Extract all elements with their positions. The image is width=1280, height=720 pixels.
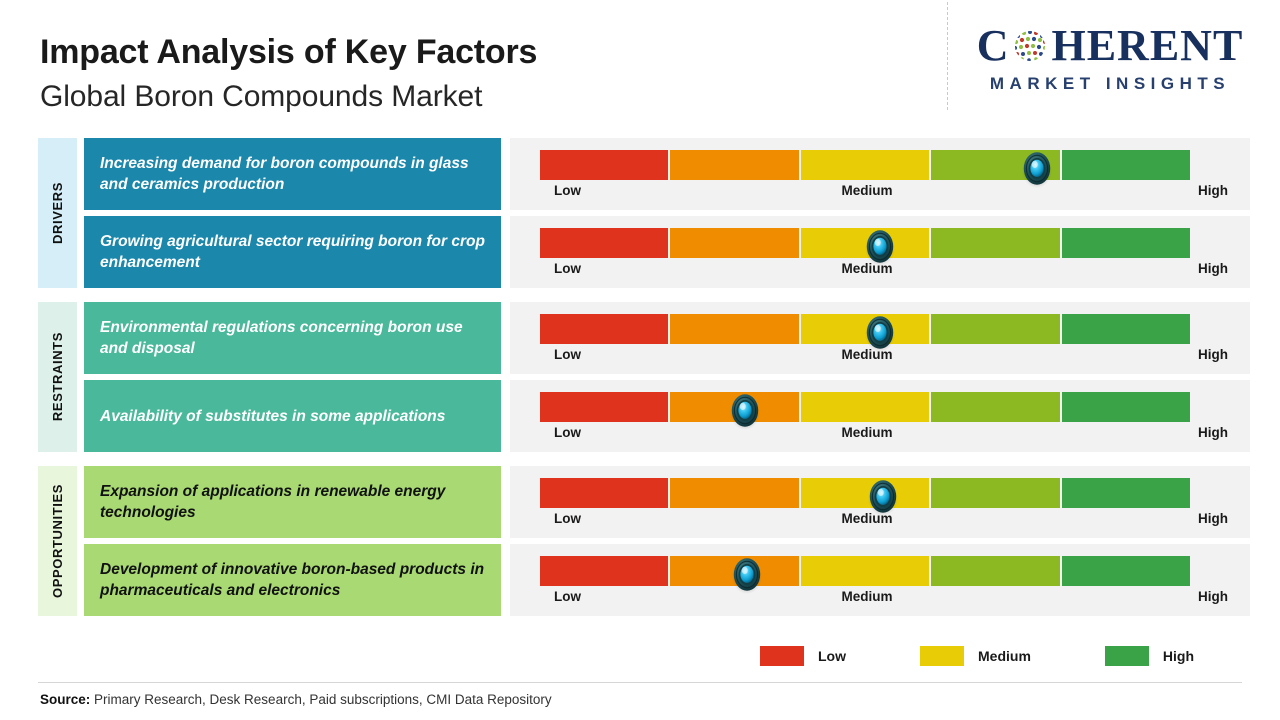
scale-label-low: Low: [554, 261, 581, 276]
gauge-segment-4: [931, 314, 1059, 344]
scale-label-medium: Medium: [841, 511, 892, 526]
source-text: Primary Research, Desk Research, Paid su…: [90, 692, 551, 707]
gauge-segment-5: [1062, 392, 1190, 422]
factor-stack: Expansion of applications in renewable e…: [84, 466, 501, 616]
gauge-segment-2: [670, 556, 798, 586]
gauge-bar: [540, 478, 1190, 508]
gauges-column: LowMediumHigh LowMediumHigh: [510, 138, 1250, 616]
gauge-bar: [540, 150, 1190, 180]
vertical-dashed-divider-icon: [947, 2, 948, 110]
category-tab-label: RESTRAINTS: [50, 332, 65, 421]
gauge-segment-5: [1062, 556, 1190, 586]
scale-label-low: Low: [554, 425, 581, 440]
scale-label-low: Low: [554, 183, 581, 198]
gauge-segment-3: [801, 150, 929, 180]
category-group-drivers: DRIVERSIncreasing demand for boron compo…: [38, 138, 501, 288]
factors-column: DRIVERSIncreasing demand for boron compo…: [38, 138, 501, 616]
gauge-bar: [540, 228, 1190, 258]
scale-label-high: High: [1198, 261, 1228, 276]
gauge-segment-4: [931, 228, 1059, 258]
legend-item: High: [1105, 646, 1194, 666]
scale-label-high: High: [1198, 589, 1228, 604]
source-note: Source: Primary Research, Desk Research,…: [40, 692, 552, 707]
logo-wordmark: C: [960, 22, 1260, 70]
gauge-segment-1: [540, 556, 668, 586]
scale-label-medium: Medium: [841, 261, 892, 276]
scale-label-low: Low: [554, 511, 581, 526]
category-group-restraints: RESTRAINTSEnvironmental regulations conc…: [38, 302, 501, 452]
factor-stack: Increasing demand for boron compounds in…: [84, 138, 501, 288]
gauge-row: LowMediumHigh: [510, 138, 1250, 210]
gauge-segment-4: [931, 556, 1059, 586]
gauge-segment-3: [801, 556, 929, 586]
legend-swatch-high: [1105, 646, 1149, 666]
gauge-segment-3: [801, 392, 929, 422]
gauge-segment-5: [1062, 314, 1190, 344]
scale-label-medium: Medium: [841, 589, 892, 604]
gauge-scale: LowMediumHigh: [540, 589, 1228, 609]
title-block: Impact Analysis of Key Factors Global Bo…: [40, 30, 537, 118]
scale-label-medium: Medium: [841, 425, 892, 440]
legend-swatch-low: [760, 646, 804, 666]
factor-box[interactable]: Availability of substitutes in some appl…: [84, 380, 501, 452]
legend-label: Low: [818, 648, 846, 664]
page-subtitle: Global Boron Compounds Market: [40, 76, 537, 118]
gauge-segment-1: [540, 392, 668, 422]
impact-legend: LowMediumHigh: [760, 640, 1220, 672]
scale-label-high: High: [1198, 183, 1228, 198]
factor-box[interactable]: Increasing demand for boron compounds in…: [84, 138, 501, 210]
footer-divider: [38, 682, 1242, 683]
category-tab-label: OPPORTUNITIES: [50, 484, 65, 598]
impact-analysis-body: DRIVERSIncreasing demand for boron compo…: [0, 138, 1280, 618]
gauge-scale: LowMediumHigh: [540, 511, 1228, 531]
logo-letters-herent: HERENT: [1051, 23, 1243, 69]
gauge-scale: LowMediumHigh: [540, 347, 1228, 367]
category-group-opportunities: OPPORTUNITIESExpansion of applications i…: [38, 466, 501, 616]
gauge-row: LowMediumHigh: [510, 466, 1250, 538]
factor-stack: Environmental regulations concerning bor…: [84, 302, 501, 452]
factor-box[interactable]: Expansion of applications in renewable e…: [84, 466, 501, 538]
gauge-scale: LowMediumHigh: [540, 261, 1228, 281]
scale-label-medium: Medium: [841, 347, 892, 362]
scale-label-high: High: [1198, 347, 1228, 362]
gauge-segment-1: [540, 478, 668, 508]
gauge-segment-5: [1062, 478, 1190, 508]
gauge-segment-2: [670, 314, 798, 344]
category-tab-opportunities: OPPORTUNITIES: [38, 466, 77, 616]
gauge-segment-5: [1062, 228, 1190, 258]
logo-letter-c: C: [977, 23, 1010, 69]
legend-item: Medium: [920, 646, 1031, 666]
gauge-row: LowMediumHigh: [510, 216, 1250, 288]
scale-label-high: High: [1198, 511, 1228, 526]
logo-tagline: MARKET INSIGHTS: [960, 74, 1260, 94]
scale-label-medium: Medium: [841, 183, 892, 198]
legend-swatch-medium: [920, 646, 964, 666]
gauge-segment-2: [670, 392, 798, 422]
gauge-bar: [540, 556, 1190, 586]
gauge-segment-3: [801, 314, 929, 344]
page-header: Impact Analysis of Key Factors Global Bo…: [0, 0, 1280, 132]
scale-label-low: Low: [554, 589, 581, 604]
source-label: Source:: [40, 692, 90, 707]
scale-label-low: Low: [554, 347, 581, 362]
gauge-segment-3: [801, 478, 929, 508]
gauge-segment-1: [540, 228, 668, 258]
gauge-segment-4: [931, 150, 1059, 180]
company-logo: C: [960, 22, 1260, 94]
legend-item: Low: [760, 646, 846, 666]
factor-box[interactable]: Development of innovative boron-based pr…: [84, 544, 501, 616]
factor-box[interactable]: Growing agricultural sector requiring bo…: [84, 216, 501, 288]
gauge-row: LowMediumHigh: [510, 302, 1250, 374]
legend-label: High: [1163, 648, 1194, 664]
gauge-segment-1: [540, 150, 668, 180]
gauge-segment-4: [931, 478, 1059, 508]
gauge-row: LowMediumHigh: [510, 544, 1250, 616]
gauge-bar: [540, 314, 1190, 344]
gauge-segment-2: [670, 228, 798, 258]
gauge-segment-4: [931, 392, 1059, 422]
category-tab-label: DRIVERS: [50, 182, 65, 244]
legend-label: Medium: [978, 648, 1031, 664]
gauge-segment-5: [1062, 150, 1190, 180]
gauge-segment-1: [540, 314, 668, 344]
factor-box[interactable]: Environmental regulations concerning bor…: [84, 302, 501, 374]
gauge-scale: LowMediumHigh: [540, 183, 1228, 203]
gauge-segment-3: [801, 228, 929, 258]
gauge-row: LowMediumHigh: [510, 380, 1250, 452]
scale-label-high: High: [1198, 425, 1228, 440]
gauge-segment-2: [670, 478, 798, 508]
gauge-scale: LowMediumHigh: [540, 425, 1228, 445]
page-title: Impact Analysis of Key Factors: [40, 30, 537, 74]
gauge-segment-2: [670, 150, 798, 180]
gauge-bar: [540, 392, 1190, 422]
category-tab-restraints: RESTRAINTS: [38, 302, 77, 452]
category-tab-drivers: DRIVERS: [38, 138, 77, 288]
globe-sphere-icon: [1010, 26, 1050, 66]
